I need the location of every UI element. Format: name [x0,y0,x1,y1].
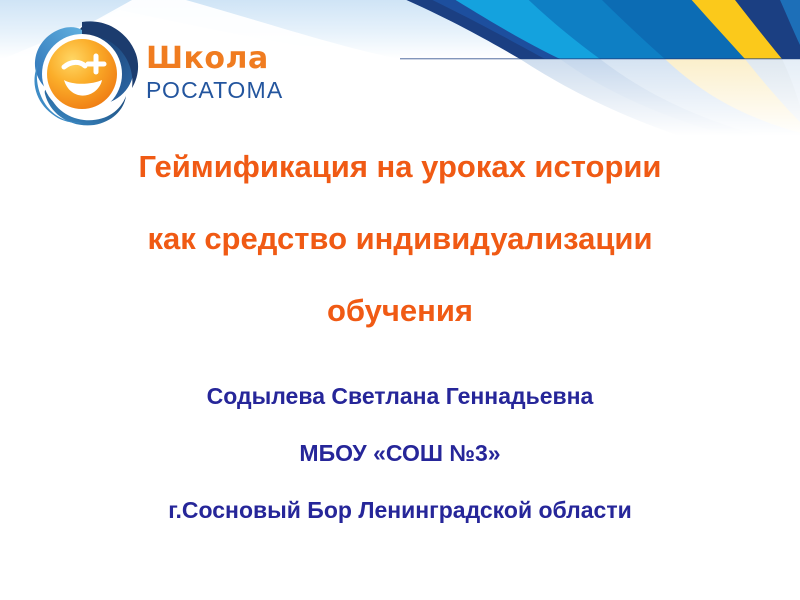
slide-subtitle: Содылева Светлана Геннадьевна МБОУ «СОШ … [0,368,800,539]
logo-word-rosatoma: РОСАТОМА [146,79,326,102]
slide-title: Геймификация на уроках истории как средс… [0,131,800,347]
banner-divider-line [400,58,800,59]
logo-word-shkola: Школа [146,44,326,74]
title-line-3: обучения [0,275,800,347]
logo-wordmark: Школа РОСАТОМА [146,44,326,102]
presentation-slide: Школа РОСАТОМА Геймификация на уроках ис… [0,0,800,600]
title-line-2: как средство индивидуализации [0,203,800,275]
title-line-1: Геймификация на уроках истории [0,131,800,203]
subtitle-author-name: Содылева Светлана Геннадьевна [0,368,800,425]
smiley-face-icon [47,39,117,109]
shkola-rosatoma-logo: Школа РОСАТОМА [24,18,324,128]
subtitle-location: г.Сосновый Бор Ленинградской области [0,482,800,539]
rosatom-smiley-icon [24,18,142,128]
subtitle-institution: МБОУ «СОШ №3» [0,425,800,482]
